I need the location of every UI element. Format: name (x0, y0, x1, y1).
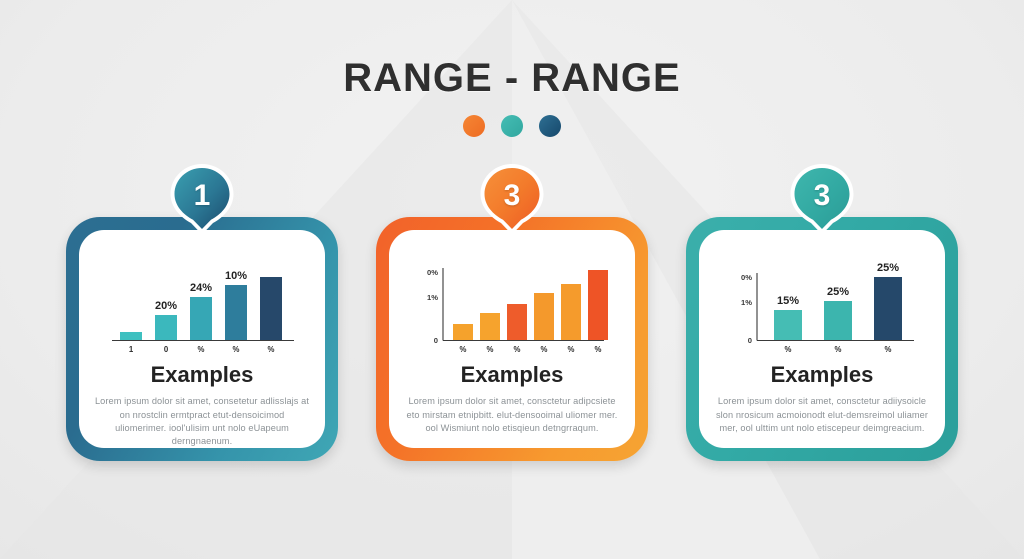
dot-navy-icon (539, 115, 561, 137)
y-tick-label: 1% (427, 293, 438, 302)
bar (225, 285, 247, 340)
bar (561, 284, 581, 340)
bar (534, 293, 554, 340)
bar (480, 313, 500, 340)
x-tick-label: 0 (164, 345, 169, 354)
bar-value-label: 10% (225, 270, 247, 282)
x-tick-label: % (514, 345, 521, 354)
card-1-content: 20% 24% 10% 1 0 % % % Examples Lorem ips (79, 230, 325, 448)
bar-chart-3: 0% 1% 0 15% 25% 25% (722, 252, 922, 357)
badge-2[interactable]: 3 (376, 161, 648, 243)
bar (874, 277, 902, 340)
x-tick-label: % (785, 345, 792, 354)
bar (120, 332, 142, 340)
card-heading: Examples (461, 363, 564, 387)
x-tick-label: % (268, 345, 275, 354)
card-3-content: 0% 1% 0 15% 25% 25% (699, 230, 945, 448)
x-tick-label: % (460, 345, 467, 354)
x-tick-label: % (487, 345, 494, 354)
cards-row: 1 20% 24% 10% (0, 161, 1024, 461)
y-tick-label: 0 (748, 336, 752, 345)
y-tick-label: 0% (427, 268, 438, 277)
card-body-text: Lorem ipsum dolor sit amet, consctetur a… (713, 395, 931, 435)
x-tick-label: % (885, 345, 892, 354)
card-2: 3 0% 1% 0 (376, 161, 648, 461)
bar (155, 315, 177, 340)
bar-value-label: 25% (827, 286, 849, 298)
card-1-frame[interactable]: 20% 24% 10% 1 0 % % % Examples Lorem ips (66, 217, 338, 461)
badge-number: 3 (814, 181, 831, 211)
card-2-content: 0% 1% 0 % (389, 230, 635, 448)
chart-2: 0% 1% 0 % (403, 252, 621, 357)
x-tick-label: % (541, 345, 548, 354)
card-body-text: Lorem ipsum dolor sit amet, consetetur a… (93, 395, 311, 448)
card-3: 3 0% 1% 0 (686, 161, 958, 461)
card-heading: Examples (151, 363, 254, 387)
card-heading: Examples (771, 363, 874, 387)
y-tick-label: 1% (741, 298, 752, 307)
x-tick-label: % (595, 345, 602, 354)
bar (824, 301, 852, 340)
y-tick-label: 0 (434, 336, 438, 345)
bar (507, 304, 527, 340)
badge-1[interactable]: 1 (66, 161, 338, 243)
x-tick-label: 1 (129, 345, 134, 354)
card-2-frame[interactable]: 0% 1% 0 % (376, 217, 648, 461)
badge-number: 1 (194, 181, 211, 211)
x-tick-label: % (233, 345, 240, 354)
header: RANGE - RANGE (0, 0, 1024, 137)
badge-3[interactable]: 3 (686, 161, 958, 243)
x-tick-label: % (568, 345, 575, 354)
bar-value-label: 24% (190, 282, 212, 294)
card-1: 1 20% 24% 10% (66, 161, 338, 461)
bar (190, 297, 212, 340)
bar (774, 310, 802, 340)
card-body-text: Lorem ipsum dolor sit amet, consctetur a… (403, 395, 621, 435)
dot-teal-icon (501, 115, 523, 137)
bar (260, 277, 282, 340)
badge-number: 3 (504, 181, 521, 211)
y-tick-label: 0% (741, 273, 752, 282)
bar-chart-2: 0% 1% 0 % (412, 252, 612, 357)
bar-value-label: 20% (155, 300, 177, 312)
decorative-dots (0, 115, 1024, 137)
chart-3: 0% 1% 0 15% 25% 25% (713, 252, 931, 357)
page-title: RANGE - RANGE (0, 58, 1024, 98)
bar (453, 324, 473, 340)
chart-1: 20% 24% 10% 1 0 % % % (93, 252, 311, 357)
bar-value-label: 25% (877, 262, 899, 274)
dot-orange-icon (463, 115, 485, 137)
x-tick-label: % (835, 345, 842, 354)
bar-chart-1: 20% 24% 10% 1 0 % % % (102, 252, 302, 357)
bar (588, 270, 608, 340)
x-tick-label: % (198, 345, 205, 354)
bar-value-label: 15% (777, 295, 799, 307)
card-3-frame[interactable]: 0% 1% 0 15% 25% 25% (686, 217, 958, 461)
